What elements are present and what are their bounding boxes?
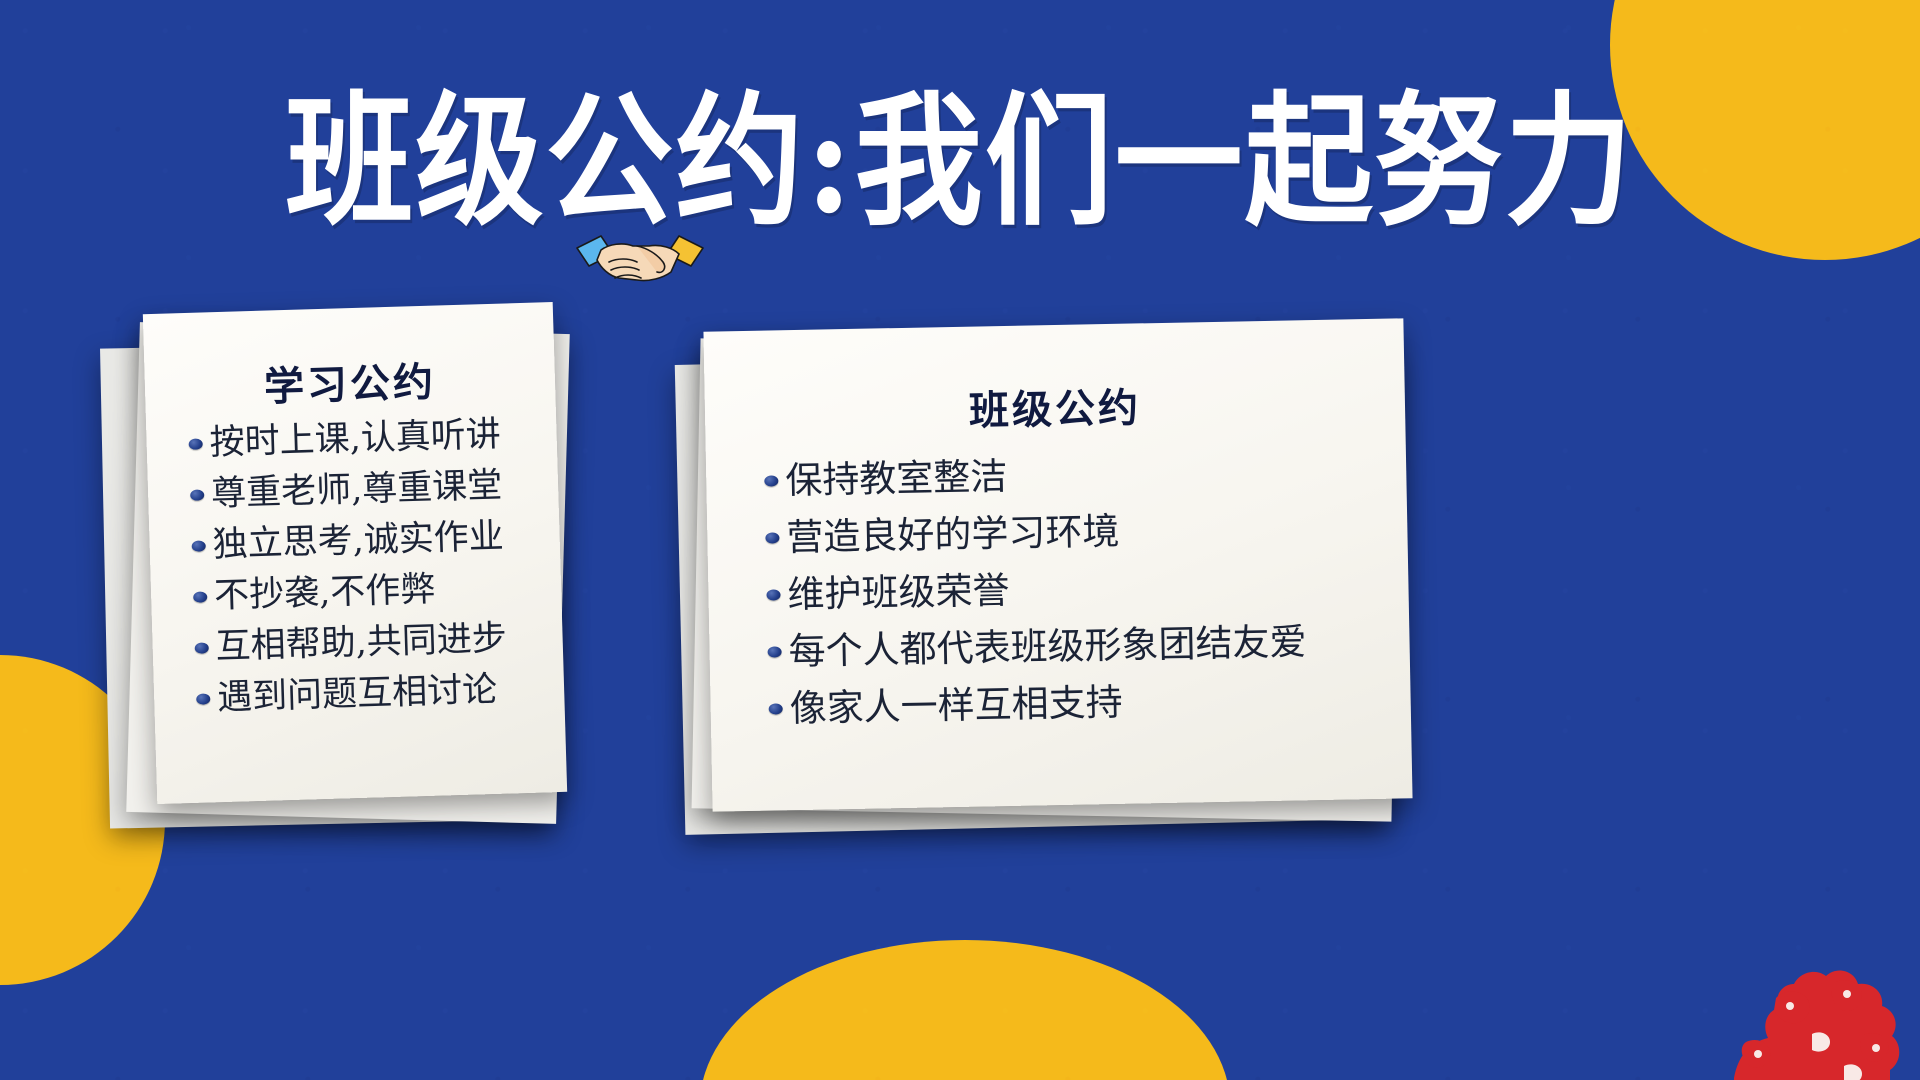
- list-item: 遇到问题互相讨论: [196, 672, 541, 717]
- class-pledge-card[interactable]: 班级公约 保持教室整洁 营造良好的学习环境 维护班级荣誉 每个人都代表班级形象团…: [680, 325, 1420, 845]
- list-item-label: 像家人一样互相支持: [789, 684, 1123, 727]
- slide-canvas: 班级公约:我们一起努力 学习公约 按时上课,认真听讲 尊重老师,尊重: [0, 0, 1920, 1080]
- study-pledge-card[interactable]: 学习公约 按时上课,认真听讲 尊重老师,尊重课堂 独立思考,诚实作业 不抄袭,不…: [105, 300, 575, 830]
- bullet-icon: [768, 646, 782, 657]
- list-item: 独立思考,诚实作业: [191, 519, 536, 564]
- bullet-icon: [193, 591, 207, 602]
- list-item-label: 独立思考,诚实作业: [212, 520, 504, 564]
- bullet-icon: [190, 489, 204, 500]
- list-item-label: 保持教室整洁: [785, 458, 1008, 499]
- handshake-icon: [575, 228, 705, 294]
- paper-front-layer: 班级公约 保持教室整洁 营造良好的学习环境 维护班级荣誉 每个人都代表班级形象团…: [703, 318, 1412, 811]
- bullet-icon: [192, 540, 206, 551]
- list-item: 维护班级荣誉: [766, 565, 1385, 614]
- list-item: 保持教室整洁: [764, 451, 1383, 500]
- left-card-list: 按时上课,认真听讲 尊重老师,尊重课堂 独立思考,诚实作业 不抄袭,不作弊 互相…: [188, 417, 540, 717]
- right-card-list: 保持教室整洁 营造良好的学习环境 维护班级荣誉 每个人都代表班级形象团结友爱 像…: [764, 451, 1387, 728]
- slide-title: 班级公约:我们一起努力: [285, 88, 1634, 237]
- bullet-icon: [766, 589, 780, 600]
- list-item-label: 每个人都代表班级形象团结友爱: [788, 623, 1307, 670]
- right-card-title: 班级公约: [728, 371, 1381, 442]
- list-item: 尊重老师,尊重课堂: [190, 468, 535, 513]
- paper-front-layer: 学习公约 按时上课,认真听讲 尊重老师,尊重课堂 独立思考,诚实作业 不抄袭,不…: [143, 302, 567, 804]
- list-item: 像家人一样互相支持: [768, 679, 1387, 728]
- paper-cut-decoration-icon: [1716, 938, 1920, 1080]
- bullet-icon: [765, 532, 779, 543]
- list-item-label: 维护班级荣誉: [787, 572, 1010, 613]
- bullet-icon: [189, 438, 203, 449]
- list-item-label: 营造良好的学习环境: [786, 513, 1120, 556]
- list-item-label: 按时上课,认真听讲: [209, 418, 501, 462]
- list-item: 每个人都代表班级形象团结友爱: [767, 622, 1386, 671]
- left-card-title: 学习公约: [168, 347, 532, 416]
- list-item-label: 不抄袭,不作弊: [214, 573, 436, 615]
- list-item: 营造良好的学习环境: [765, 508, 1384, 557]
- bullet-icon: [769, 703, 783, 714]
- list-item: 互相帮助,共同进步: [194, 621, 539, 666]
- bullet-icon: [195, 642, 209, 653]
- list-item-label: 互相帮助,共同进步: [215, 622, 507, 666]
- list-item: 按时上课,认真听讲: [188, 417, 533, 462]
- bullet-icon: [196, 693, 210, 704]
- title-container: 班级公约:我们一起努力: [0, 96, 1920, 229]
- bullet-icon: [764, 475, 778, 486]
- list-item: 不抄袭,不作弊: [193, 570, 538, 615]
- list-item-label: 尊重老师,尊重课堂: [211, 469, 503, 513]
- list-item-label: 遇到问题互相讨论: [217, 673, 498, 716]
